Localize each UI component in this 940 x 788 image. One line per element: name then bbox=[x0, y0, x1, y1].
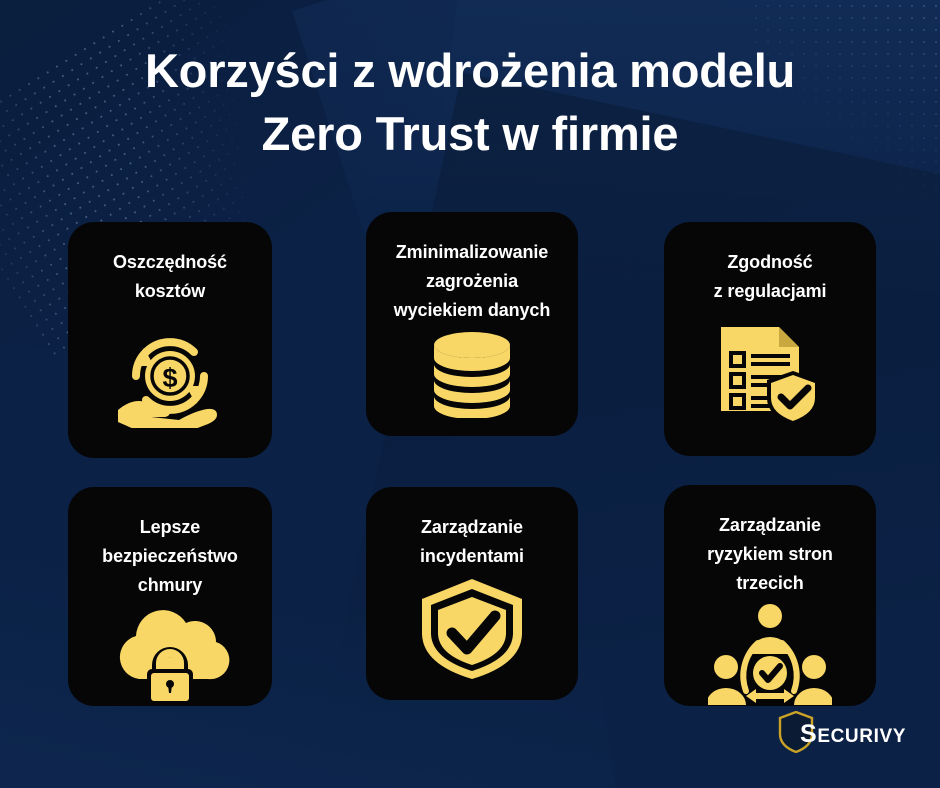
benefit-card-label: Zarządzanie incydentami bbox=[420, 513, 524, 571]
cloud-lock-icon bbox=[82, 605, 258, 701]
benefit-card-third-party-risk: Zarządzanie ryzykiem stron trzecich bbox=[664, 485, 876, 706]
three-people-network-check-icon bbox=[678, 603, 862, 707]
brand-rest: ECURIVY bbox=[817, 726, 906, 747]
benefit-card-grid: Oszczędność kosztów $ bbox=[68, 212, 876, 706]
checklist-document-shield-icon bbox=[678, 312, 862, 438]
hand-holding-dollar-coin-icon: $ bbox=[82, 312, 258, 440]
benefit-card-incident-management: Zarządzanie incydentami bbox=[366, 487, 578, 700]
svg-text:$: $ bbox=[162, 363, 177, 393]
benefit-card-cost-savings: Oszczędność kosztów $ bbox=[68, 222, 272, 458]
brand-initial: S bbox=[800, 720, 817, 748]
benefit-card-label: Zminimalizowanie zagrożenia wyciekiem da… bbox=[394, 238, 550, 324]
benefit-card-cloud-security: Lepsze bezpieczeństwo chmury bbox=[68, 487, 272, 706]
benefit-card-label: Zgodność z regulacjami bbox=[714, 248, 827, 306]
brand-name: SECURIVY bbox=[800, 722, 906, 747]
brand-logo[interactable]: SECURIVY bbox=[778, 711, 906, 758]
database-stack-icon bbox=[380, 330, 564, 418]
benefit-card-label: Lepsze bezpieczeństwo chmury bbox=[102, 513, 238, 599]
shield-check-icon bbox=[380, 577, 564, 682]
benefit-card-data-leak: Zminimalizowanie zagrożenia wyciekiem da… bbox=[366, 212, 578, 436]
benefit-card-compliance: Zgodność z regulacjami bbox=[664, 222, 876, 456]
benefit-card-label: Oszczędność kosztów bbox=[113, 248, 227, 306]
page-title: Korzyści z wdrożenia modelu Zero Trust w… bbox=[0, 40, 940, 166]
infographic-poster: Korzyści z wdrożenia modelu Zero Trust w… bbox=[0, 0, 940, 788]
page-title-line-2: Zero Trust w firmie bbox=[0, 103, 940, 166]
page-title-line-1: Korzyści z wdrożenia modelu bbox=[0, 40, 940, 103]
benefit-card-label: Zarządzanie ryzykiem stron trzecich bbox=[707, 511, 833, 597]
